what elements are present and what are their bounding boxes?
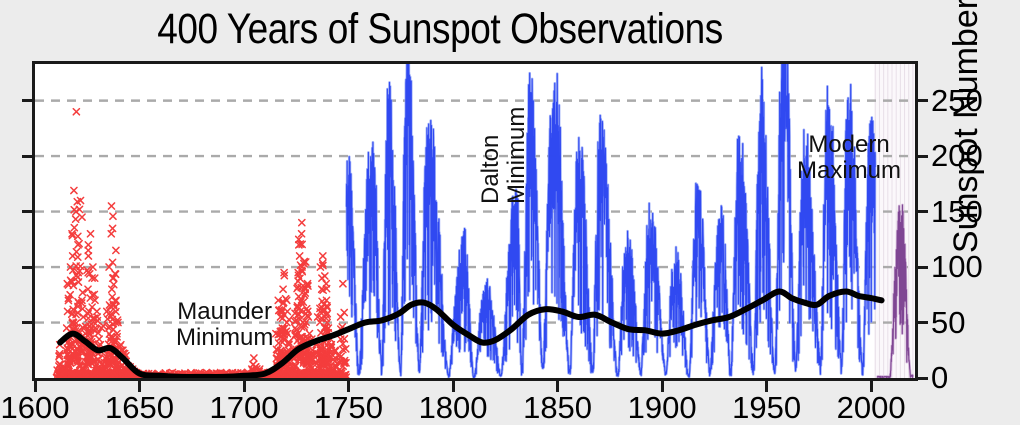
y-tick-mark <box>918 377 928 380</box>
y-tick-label: 200 <box>931 140 983 171</box>
y-tick-mark <box>918 321 928 324</box>
plot-canvas <box>35 64 915 378</box>
plot-area: Maunder Minimum Dalton Minimum Modern Ma… <box>32 61 918 381</box>
x-tick-label: 1650 <box>105 392 174 423</box>
y-tick-mark <box>918 99 928 102</box>
chart-title: 400 Years of Sunspot Observations <box>62 2 819 56</box>
y-tick-mark-left <box>22 99 32 102</box>
y-tick-label: 100 <box>931 251 983 282</box>
x-tick-label: 1950 <box>732 392 801 423</box>
x-tick-label: 2000 <box>837 392 906 423</box>
y-tick-mark-left <box>22 321 32 324</box>
y-tick-mark-left <box>22 155 32 158</box>
x-tick-label: 1700 <box>210 392 279 423</box>
y-tick-label: 150 <box>931 196 983 227</box>
y-tick-mark <box>918 210 928 213</box>
y-tick-mark <box>918 266 928 269</box>
x-tick-label: 1600 <box>1 392 70 423</box>
x-tick-label: 1800 <box>419 392 488 423</box>
y-tick-mark-left <box>22 210 32 213</box>
y-tick-label: 250 <box>931 85 983 116</box>
sunspot-chart: 400 Years of Sunspot Observations Maunde… <box>0 0 1020 425</box>
x-tick-label: 1750 <box>314 392 383 423</box>
y-tick-mark <box>918 155 928 158</box>
y-tick-mark-left <box>22 266 32 269</box>
y-tick-label: 50 <box>931 307 965 338</box>
x-tick-label: 1850 <box>523 392 592 423</box>
x-tick-label: 1900 <box>628 392 697 423</box>
y-tick-label: 0 <box>931 362 948 393</box>
